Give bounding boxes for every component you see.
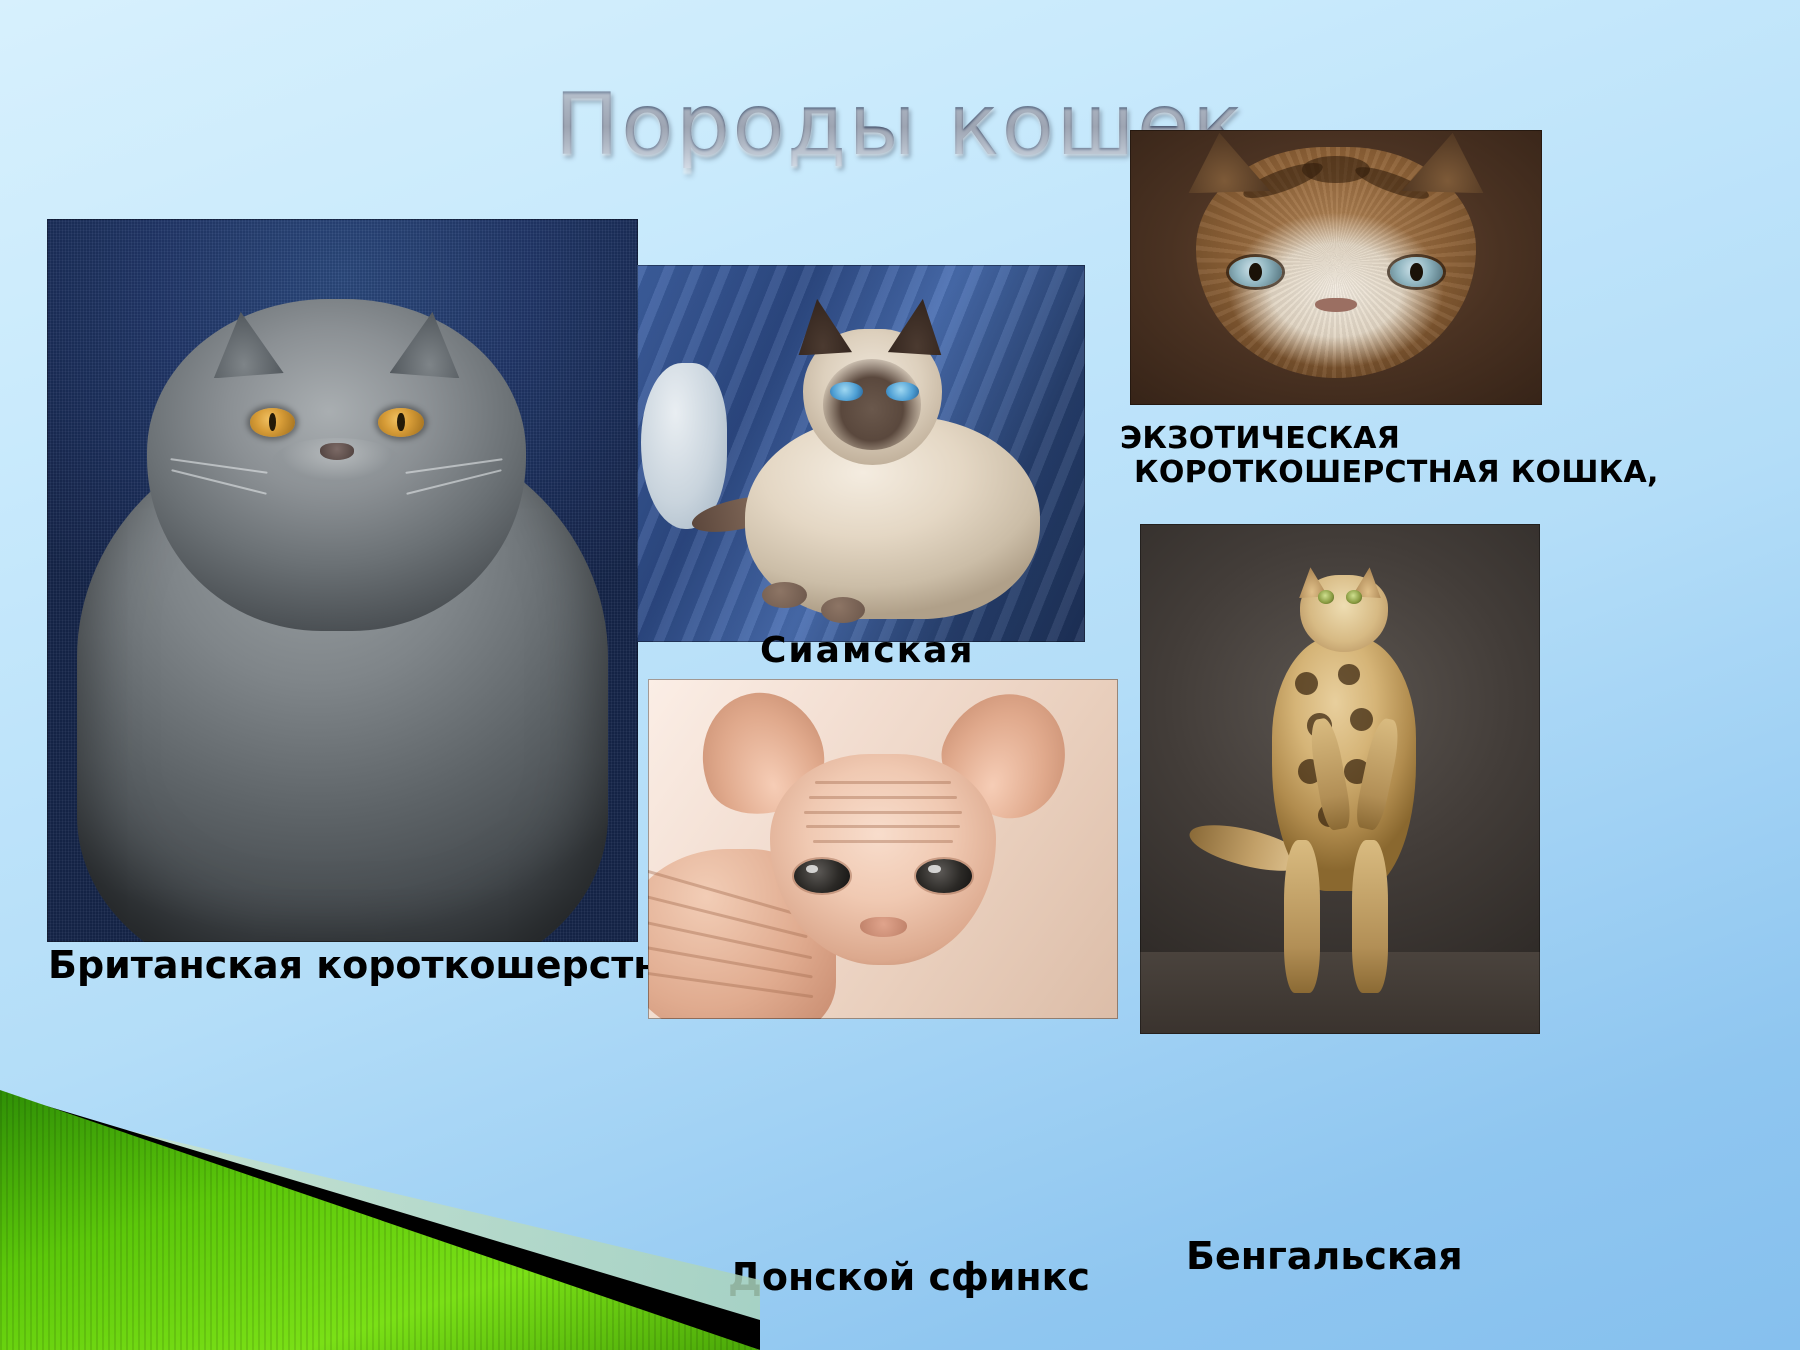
cat-eye-left (1229, 257, 1283, 287)
cat-eye-right (886, 382, 920, 401)
exotic-shorthair-image (1130, 130, 1542, 405)
pillow (641, 363, 726, 529)
rosette-spot (1338, 664, 1360, 684)
caption-exotic-shorthair: ЭКЗОТИЧЕСКАЯ КОРОТКОШЕРСТНАЯ КОШКА, (1120, 422, 1659, 489)
cat-face-mask (823, 359, 922, 449)
mint-wedge (0, 1100, 760, 1350)
caption-exotic-line1: ЭКЗОТИЧЕСКАЯ (1120, 421, 1400, 456)
cat-hind-leg (1284, 840, 1320, 993)
photo-bengal[interactable] (1140, 524, 1540, 1034)
slide-canvas: Породы кошек Британская короткошерстная (0, 0, 1800, 1350)
photo-british-shorthair[interactable] (47, 219, 638, 942)
forehead-wrinkle (815, 781, 950, 784)
siamese-image (637, 265, 1085, 642)
skin-wrinkle (648, 943, 813, 979)
photo-donskoy-sphynx[interactable] (648, 679, 1118, 1019)
cat-eye-left (250, 408, 295, 436)
cat-eye-right (378, 408, 423, 436)
cat-paw (762, 582, 807, 608)
whisker (170, 458, 268, 474)
black-wedge (0, 1092, 760, 1350)
green-triangle-stripes (0, 1090, 760, 1350)
donskoy-sphynx-image (648, 679, 1118, 1019)
caption-donskoy-sphynx: Донской сфинкс (728, 1256, 1090, 1299)
whisker (171, 470, 267, 496)
corner-decoration (0, 980, 760, 1350)
caption-bengal: Бенгальская (1186, 1235, 1463, 1278)
cat-eye-left (1318, 590, 1334, 603)
tabby-stripe (1302, 156, 1369, 184)
cat-nose (320, 443, 354, 460)
forehead-wrinkle (806, 825, 959, 828)
forehead-wrinkle (804, 811, 962, 814)
rosette-spot (1350, 708, 1373, 731)
cat-eye-right (1390, 257, 1444, 287)
photo-exotic-shorthair[interactable] (1130, 130, 1542, 405)
caption-exotic-line2: КОРОТКОШЕРСТНАЯ КОШКА, (1120, 456, 1659, 490)
green-triangle (0, 1090, 760, 1350)
forehead-wrinkle (813, 840, 953, 843)
cat-eye-right (1346, 590, 1362, 603)
photo-siamese[interactable] (637, 265, 1085, 642)
cat-hind-leg (1352, 840, 1388, 993)
british-shorthair-image (47, 219, 638, 942)
cat-eye-left (830, 382, 864, 401)
cat-head (147, 299, 525, 632)
floor-shadow (1140, 952, 1540, 1034)
whisker (406, 470, 502, 496)
cat-nose (1315, 298, 1356, 312)
whisker (405, 458, 503, 474)
cat-eye-left (794, 859, 850, 893)
rosette-spot (1295, 672, 1318, 695)
forehead-wrinkle (809, 796, 958, 799)
caption-siamese: Сиамская (760, 631, 975, 671)
caption-british-shorthair: Британская короткошерстная (48, 944, 710, 987)
bengal-image (1140, 524, 1540, 1034)
